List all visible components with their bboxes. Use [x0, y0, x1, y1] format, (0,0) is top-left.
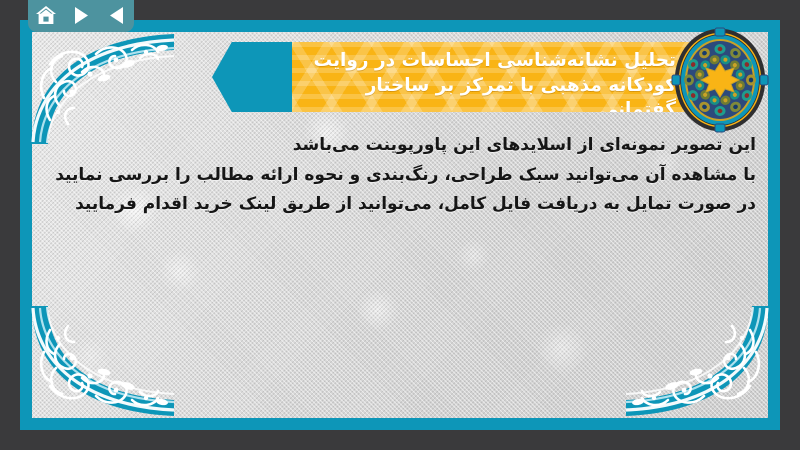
presentation-slide: تحلیل نشانه‌شناسی احساسات در روایت کودکا… — [20, 20, 780, 430]
home-button[interactable] — [33, 3, 59, 27]
body-line-3: در صورت تمایل به دریافت فایل کامل، می‌تو… — [44, 191, 756, 219]
body-line-1: این تصویر نمونه‌ای از اسلایدهای این پاور… — [44, 132, 756, 160]
slide-title-banner: تحلیل نشانه‌شناسی احساسات در روایت کودکا… — [212, 42, 732, 112]
banner-body: تحلیل نشانه‌شناسی احساسات در روایت کودکا… — [292, 42, 732, 112]
body-line-2: با مشاهده آن می‌توانید سبک طراحی، رنگ‌بن… — [44, 162, 756, 190]
ornamental-medallion-icon — [670, 26, 770, 134]
slide-viewer: تحلیل نشانه‌شناسی احساسات در روایت کودکا… — [0, 0, 800, 450]
next-slide-button[interactable] — [68, 3, 94, 27]
slide-title: تحلیل نشانه‌شناسی احساسات در روایت کودکا… — [292, 42, 732, 112]
slide-body-text: این تصویر نمونه‌ای از اسلایدهای این پاور… — [44, 132, 756, 221]
slide-navigation-bar — [28, 0, 134, 32]
previous-slide-button[interactable] — [103, 3, 129, 27]
banner-arrow-shape — [212, 42, 302, 112]
